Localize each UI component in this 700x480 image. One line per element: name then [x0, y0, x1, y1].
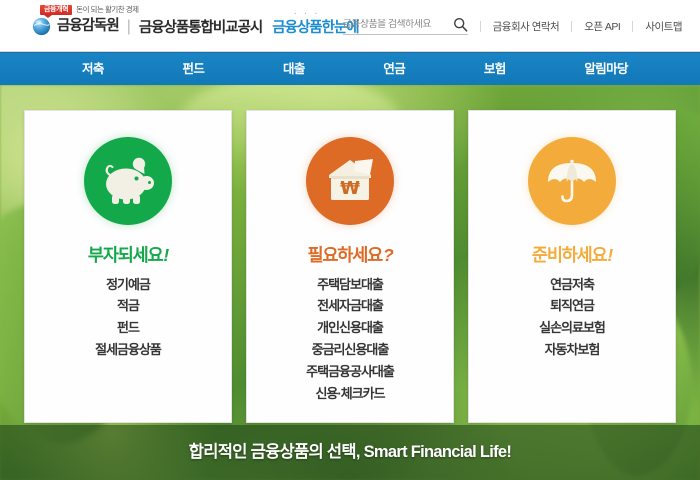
nav-item-notices[interactable]: 알림마당 — [584, 63, 628, 76]
card-loans[interactable]: ₩ 필요하세요? 주택담보대출 전세자금대출 개인신용대출 중금리신용대출 주택… — [246, 110, 454, 423]
list-item[interactable]: 펀드 — [35, 317, 221, 339]
nav-item-savings[interactable]: 저축 — [82, 63, 104, 76]
card-title-insurance-punct: ! — [606, 245, 612, 265]
nav-item-funds[interactable]: 펀드 — [182, 63, 204, 76]
card-title-insurance-text: 준비하세요 — [532, 245, 607, 265]
main-navigation: 저축 펀드 대출 연금 보험 알림마당 — [0, 52, 700, 85]
brand-block[interactable]: 금융개혁 돈이 되는 활기찬 경제 — [32, 5, 359, 37]
decorative-dots: · · · — [294, 11, 320, 18]
list-item[interactable]: 정기예금 — [35, 274, 221, 296]
list-item[interactable]: 주택담보대출 — [257, 274, 443, 296]
card-savings[interactable]: 부자되세요! 정기예금 적금 펀드 절세금융상품 — [24, 110, 232, 423]
list-item[interactable]: 실손의료보험 — [479, 317, 665, 339]
house-won-icon: ₩ — [306, 137, 394, 225]
utility-separator-3 — [632, 21, 633, 32]
nav-item-loans[interactable]: 대출 — [283, 63, 305, 76]
list-item[interactable]: 적금 — [35, 295, 221, 317]
card-insurance-list: 연금저축 퇴직연금 실손의료보험 자동차보험 — [479, 274, 665, 361]
nav-item-pension[interactable]: 연금 — [383, 63, 405, 76]
slogan-badge: 금융개혁 — [40, 5, 72, 15]
banner-text: 합리적인 금융상품의 선택, Smart Financial Life! — [189, 444, 511, 461]
list-item[interactable]: 개인신용대출 — [257, 317, 443, 339]
page-root: 금융개혁 돈이 되는 활기찬 경제 — [0, 0, 700, 480]
list-item[interactable]: 퇴직연금 — [479, 295, 665, 317]
nav-items-container: 저축 펀드 대출 연금 보험 알림마당 — [30, 63, 670, 76]
util-link-company-contacts[interactable]: 금융회사 연락처 — [493, 19, 560, 34]
site-header: 금융개혁 돈이 되는 활기찬 경제 — [0, 0, 700, 52]
card-insurance[interactable]: 준비하세요! 연금저축 퇴직연금 실손의료보험 자동차보험 — [468, 110, 676, 423]
card-title-insurance: 준비하세요! — [532, 247, 612, 265]
card-title-savings-text: 부자되세요 — [88, 245, 163, 265]
logo-organization: 금융감독원 — [57, 19, 119, 34]
card-loans-list: 주택담보대출 전세자금대출 개인신용대출 중금리신용대출 주택금융공사대출 신용… — [257, 274, 443, 405]
list-item[interactable]: 신용·체크카드 — [257, 383, 443, 405]
nav-item-insurance[interactable]: 보험 — [484, 63, 506, 76]
search-box[interactable] — [343, 17, 468, 35]
logo-row[interactable]: 금융감독원 | 금융상품통합비교공시 · · · 금융상품한눈에 — [32, 16, 359, 37]
slogan-text: 돈이 되는 활기찬 경제 — [76, 6, 138, 14]
umbrella-icon — [528, 137, 616, 225]
card-title-loans-punct: ? — [382, 245, 393, 265]
header-utility-area: 금융회사 연락처 오픈 API 사이트맵 — [343, 17, 682, 35]
utility-separator-1 — [480, 21, 481, 32]
svg-text:₩: ₩ — [340, 178, 360, 199]
util-link-sitemap[interactable]: 사이트맵 — [645, 19, 682, 34]
list-item[interactable]: 연금저축 — [479, 274, 665, 296]
bottom-banner: 합리적인 금융상품의 선택, Smart Financial Life! — [0, 425, 700, 480]
list-item[interactable]: 전세자금대출 — [257, 295, 443, 317]
category-cards: 부자되세요! 정기예금 적금 펀드 절세금융상품 ₩ — [0, 110, 700, 423]
card-savings-list: 정기예금 적금 펀드 절세금융상품 — [35, 274, 221, 361]
search-input[interactable] — [343, 19, 443, 30]
util-link-open-api[interactable]: 오픈 API — [584, 19, 620, 34]
list-item[interactable]: 절세금융상품 — [35, 339, 221, 361]
card-title-savings: 부자되세요! — [88, 247, 168, 265]
hero-section: 부자되세요! 정기예금 적금 펀드 절세금융상품 ₩ — [0, 85, 700, 480]
card-title-savings-punct: ! — [162, 245, 168, 265]
search-icon[interactable] — [453, 17, 468, 32]
piggy-bank-icon — [84, 137, 172, 225]
card-title-loans-text: 필요하세요 — [308, 245, 383, 265]
list-item[interactable]: 중금리신용대출 — [257, 339, 443, 361]
utility-separator-2 — [571, 21, 572, 32]
list-item[interactable]: 자동차보험 — [479, 339, 665, 361]
logo-service-name: 금융상품통합비교공시 — [139, 16, 262, 37]
list-item[interactable]: 주택금융공사대출 — [257, 361, 443, 383]
globe-icon — [32, 17, 51, 36]
card-title-loans: 필요하세요? — [308, 247, 393, 265]
logo-divider: | — [127, 18, 131, 36]
